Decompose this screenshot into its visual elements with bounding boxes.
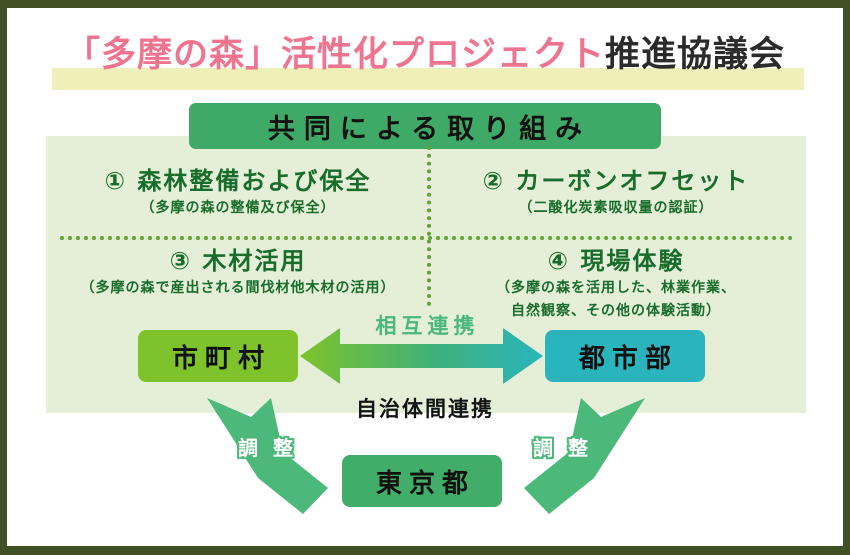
initiative-item-2: ② カーボンオフセット （二酸化炭素吸収量の認証） <box>436 166 796 219</box>
adjust-label-left: 調 整 <box>238 432 297 461</box>
entity-label-tokyo: 東京都 <box>369 463 475 500</box>
entity-box-urban: 都市部 <box>545 330 705 382</box>
initiative-3-subtitle: （多摩の森で産出される間伐材他木材の活用） <box>58 278 418 299</box>
page-title: 「多摩の森」活性化プロジェクト推進協議会 <box>0 26 850 88</box>
title-text: 「多摩の森」活性化プロジェクト推進協議会 <box>0 26 850 84</box>
mutual-cooperation-label: 相互連携 <box>300 310 550 340</box>
entity-label-urban: 都市部 <box>572 338 678 375</box>
initiative-2-title: ② カーボンオフセット <box>436 166 796 196</box>
initiative-1-subtitle: （多摩の森の整備及び保全） <box>58 198 418 219</box>
panel-vertical-divider <box>427 146 431 306</box>
interlocal-cooperation-label: 自治体間連携 <box>300 393 550 423</box>
initiative-4-title: ④ 現場体験 <box>436 246 796 276</box>
panel-horizontal-divider <box>60 236 793 240</box>
title-pink-part: 「多摩の森」活性化プロジェクト <box>65 35 605 75</box>
entity-box-municipal: 市町村 <box>138 330 298 382</box>
joint-efforts-header-label: 共同による取り組み <box>259 107 591 146</box>
initiative-item-1: ① 森林整備および保全 （多摩の森の整備及び保全） <box>58 166 418 219</box>
adjust-label-right: 調 整 <box>533 432 592 461</box>
initiative-2-subtitle: （二酸化炭素吸収量の認証） <box>436 198 796 219</box>
title-dark-part: 推進協議会 <box>605 35 785 75</box>
joint-efforts-header: 共同による取り組み <box>189 103 661 149</box>
initiative-1-title: ① 森林整備および保全 <box>58 166 418 196</box>
initiative-3-title: ③ 木材活用 <box>58 246 418 276</box>
initiative-item-3: ③ 木材活用 （多摩の森で産出される間伐材他木材の活用） <box>58 246 418 299</box>
diagram-frame: 「多摩の森」活性化プロジェクト推進協議会 共同による取り組み ① 森林整備および… <box>0 0 850 555</box>
initiative-4-subtitle: （多摩の森を活用した、林業作業、 <box>436 278 796 299</box>
entity-box-tokyo: 東京都 <box>342 455 502 507</box>
entity-label-municipal: 市町村 <box>165 338 271 375</box>
diagram-stage: 「多摩の森」活性化プロジェクト推進協議会 共同による取り組み ① 森林整備および… <box>0 0 850 555</box>
